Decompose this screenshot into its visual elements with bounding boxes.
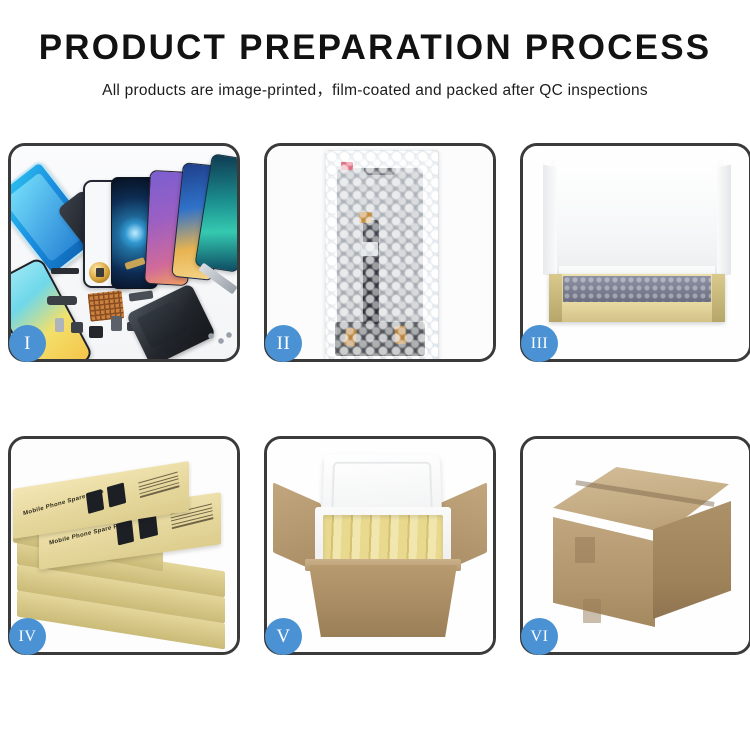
box-spec-lines-top [138, 471, 180, 500]
step-panel-4: Mobile Phone Spare Parts Mobile Phone Sp… [8, 436, 240, 655]
product-preparation-infographic: PRODUCT PREPARATION PROCESS All products… [0, 0, 750, 750]
step-2-image [267, 146, 493, 359]
step-badge-1-label: I [24, 334, 31, 353]
small-part-3 [89, 326, 103, 338]
screen-notch [364, 168, 396, 175]
header: PRODUCT PREPARATION PROCESS All products… [0, 0, 750, 100]
step-panel-2: II [264, 143, 496, 362]
box-front-panel [549, 302, 725, 322]
flex-connector-pad [361, 242, 378, 256]
step-badge-6-label: VI [531, 629, 549, 645]
small-part-2 [71, 322, 83, 333]
small-part-4 [111, 316, 122, 331]
step-badge-3: III [521, 325, 558, 362]
box-phone-image-top-1 [86, 489, 104, 514]
box-phone-image-front-1 [116, 520, 134, 545]
lcd-screen-assembly [337, 168, 423, 340]
step-panel-1: I [8, 143, 240, 362]
flex-cable [363, 220, 379, 324]
kraft-boxes-inside [323, 515, 443, 565]
pink-qc-label [341, 162, 353, 170]
speaker-coil-part [89, 262, 110, 283]
step-3-image [523, 146, 749, 359]
small-part-1 [55, 318, 64, 332]
box-left-flap [549, 274, 562, 322]
screws-part [207, 332, 233, 346]
step-badge-2-label: II [277, 334, 291, 353]
carton-tape-patch-top [575, 537, 595, 563]
kraft-box-stack: Mobile Phone Spare Parts Mobile Phone Sp… [11, 449, 237, 652]
box-lid-white [551, 160, 723, 278]
step-5-image [267, 439, 493, 652]
step-badge-1: I [9, 325, 46, 362]
box-phone-image-top-2 [107, 482, 126, 507]
bubble-wrapped-contents [563, 276, 711, 302]
carton-tape-patch-bottom [583, 599, 601, 623]
page-title: PRODUCT PREPARATION PROCESS [0, 30, 750, 67]
step-badge-2: II [265, 325, 302, 362]
step-panel-5: V [264, 436, 496, 655]
step-badge-6: VI [521, 618, 558, 655]
sealed-carton-left-face [553, 517, 655, 627]
connector-strip-part [51, 268, 79, 274]
step-panel-3: III [520, 143, 750, 362]
bracket-part [129, 290, 154, 301]
step-1-image [11, 146, 237, 359]
step-badge-5-label: V [276, 627, 290, 646]
page-subtitle: All products are image-printed，film-coat… [0, 78, 750, 100]
step-6-image [523, 439, 749, 652]
step-panel-6: VI [520, 436, 750, 655]
box-right-flap [712, 274, 725, 322]
step-badge-3-label: III [531, 336, 548, 352]
process-steps-grid: I II [8, 143, 744, 655]
gold-contact-right [394, 325, 407, 344]
carton-body [309, 565, 457, 637]
step-badge-5: V [265, 618, 302, 655]
step-badge-4-label: IV [19, 629, 37, 645]
step-4-image: Mobile Phone Spare Parts Mobile Phone Sp… [11, 439, 237, 652]
kraft-box-tray [549, 274, 725, 322]
step-badge-4: IV [9, 618, 46, 655]
flex-cable-part [47, 296, 77, 305]
gold-contact-top [359, 212, 372, 223]
